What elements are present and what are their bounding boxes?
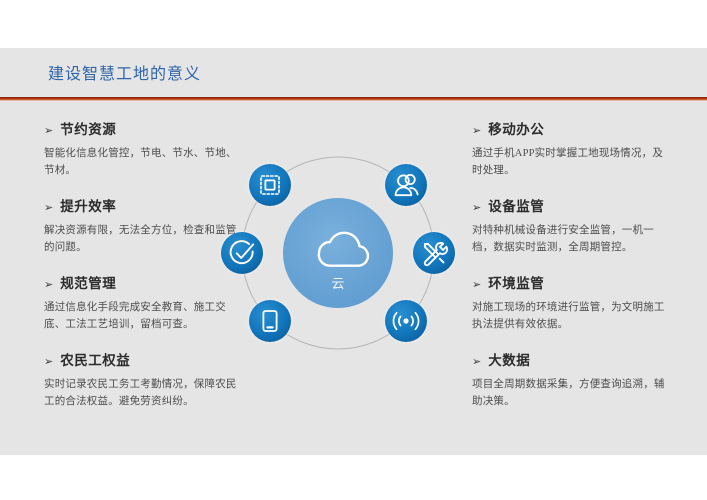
- block-body: 解决资源有限，无法全方位，检查和监管的问题。: [44, 222, 244, 256]
- arrow-bullet-icon: ➢: [44, 279, 53, 290]
- node-wireless: [383, 298, 429, 344]
- block-title: 大数据: [488, 349, 530, 369]
- node-chip: [247, 162, 293, 208]
- arrow-bullet-icon: ➢: [44, 125, 53, 136]
- list-item: ➢ 大数据 项目全周期数据采集，方便查询追溯，辅助决策。: [472, 349, 672, 410]
- right-column: ➢ 移动办公 通过手机APP实时掌握工地现场情况，及时处理。 ➢ 设备监管 对特…: [472, 118, 672, 410]
- arrow-bullet-icon: ➢: [472, 202, 481, 213]
- arrow-bullet-icon: ➢: [472, 356, 481, 367]
- block-heading: ➢ 农民工权益: [44, 349, 244, 369]
- left-column: ➢ 节约资源 智能化信息化管控，节电、节水、节地、节材。 ➢ 提升效率 解决资源…: [44, 118, 244, 410]
- arrow-bullet-icon: ➢: [472, 125, 481, 136]
- block-body: 项目全周期数据采集，方便查询追溯，辅助决策。: [472, 376, 672, 410]
- block-title: 农民工权益: [60, 349, 130, 369]
- list-item: ➢ 环境监管 对施工现场的环境进行监管，为文明施工执法提供有效依据。: [472, 272, 672, 333]
- arrow-bullet-icon: ➢: [44, 202, 53, 213]
- list-item: ➢ 移动办公 通过手机APP实时掌握工地现场情况，及时处理。: [472, 118, 672, 179]
- cloud-hub-diagram: 云: [218, 133, 458, 373]
- block-title: 提升效率: [60, 195, 116, 215]
- block-title: 移动办公: [488, 118, 544, 138]
- arrow-bullet-icon: ➢: [472, 279, 481, 290]
- center-label: 云: [331, 276, 344, 291]
- list-item: ➢ 设备监管 对特种机械设备进行安全监管，一机一档，数据实时监测，全周期管控。: [472, 195, 672, 256]
- block-heading: ➢ 提升效率: [44, 195, 244, 215]
- slide-canvas: 建设智慧工地的意义 ➢ 节约资源 智能化信息化管控，节电、节水、节地、节材。 ➢…: [0, 0, 707, 500]
- block-heading: ➢ 大数据: [472, 349, 672, 369]
- block-title: 设备监管: [488, 195, 544, 215]
- block-body: 对施工现场的环境进行监管，为文明施工执法提供有效依据。: [472, 299, 672, 333]
- node-users: [383, 162, 429, 208]
- list-item: ➢ 节约资源 智能化信息化管控，节电、节水、节地、节材。: [44, 118, 244, 179]
- arrow-bullet-icon: ➢: [44, 356, 53, 367]
- list-item: ➢ 农民工权益 实时记录农民工务工考勤情况，保障农民工的合法权益。避免劳资纠纷。: [44, 349, 244, 410]
- block-body: 智能化信息化管控，节电、节水、节地、节材。: [44, 145, 244, 179]
- center-disc: [283, 198, 393, 308]
- node-circle: [249, 164, 291, 206]
- block-heading: ➢ 设备监管: [472, 195, 672, 215]
- block-heading: ➢ 环境监管: [472, 272, 672, 292]
- node-tools: [411, 230, 457, 276]
- node-check: [219, 230, 265, 276]
- title-divider-highlight: [0, 100, 707, 101]
- node-circle: [249, 300, 291, 342]
- list-item: ➢ 规范管理 通过信息化手段完成安全教育、施工交底、工法工艺培训，留档可查。: [44, 272, 244, 333]
- block-body: 通过信息化手段完成安全教育、施工交底、工法工艺培训，留档可查。: [44, 299, 244, 333]
- block-title: 环境监管: [488, 272, 544, 292]
- node-circle: [221, 232, 263, 274]
- list-item: ➢ 提升效率 解决资源有限，无法全方位，检查和监管的问题。: [44, 195, 244, 256]
- block-body: 通过手机APP实时掌握工地现场情况，及时处理。: [472, 145, 672, 179]
- block-title: 规范管理: [60, 272, 116, 292]
- node-smartphone: [247, 298, 293, 344]
- block-heading: ➢ 节约资源: [44, 118, 244, 138]
- block-heading: ➢ 规范管理: [44, 272, 244, 292]
- block-body: 对特种机械设备进行安全监管，一机一档，数据实时监测，全周期管控。: [472, 222, 672, 256]
- block-heading: ➢ 移动办公: [472, 118, 672, 138]
- page-title: 建设智慧工地的意义: [48, 60, 201, 84]
- block-body: 实时记录农民工务工考勤情况，保障农民工的合法权益。避免劳资纠纷。: [44, 376, 244, 410]
- block-title: 节约资源: [60, 118, 116, 138]
